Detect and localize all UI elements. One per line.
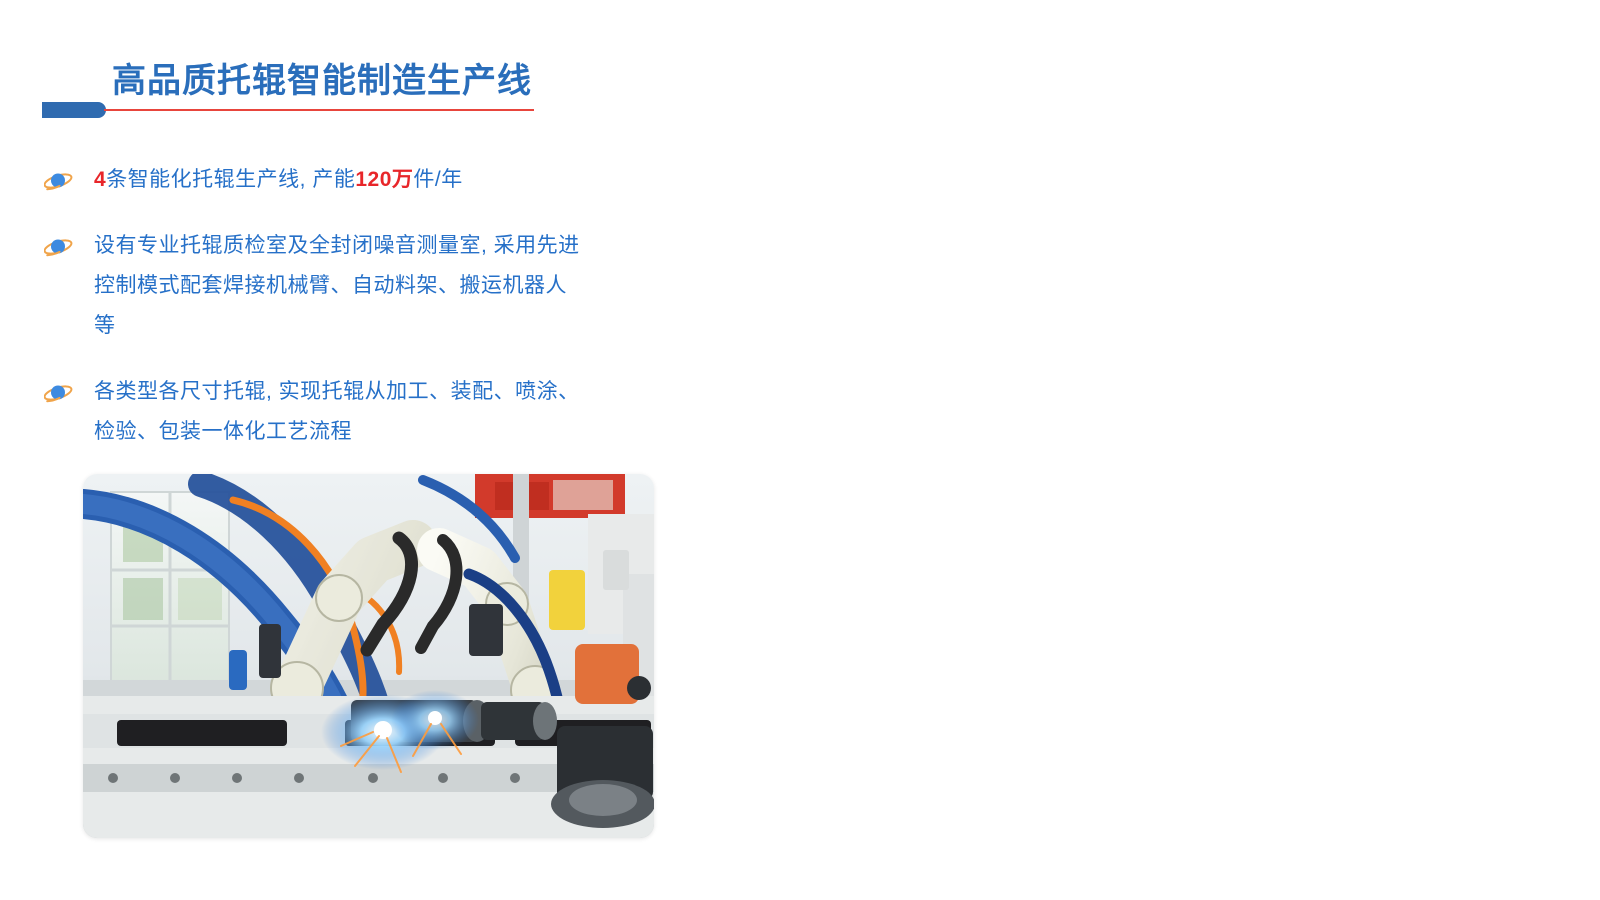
bullet-plain-text: 各类型各尺寸托辊, 实现托辊从加工、装配、喷涂、检验、包装一体化工艺流程 <box>94 380 580 443</box>
robot-welding-illustration <box>83 474 654 838</box>
bullet-text: 各类型各尺寸托辊, 实现托辊从加工、装配、喷涂、检验、包装一体化工艺流程 <box>94 372 582 452</box>
bullet-plain-text: 设有专业托辊质检室及全封闭噪音测量室, 采用先进控制模式配套焊接机械臂、自动料架… <box>94 234 580 337</box>
heading-underline-rule <box>104 109 534 111</box>
left-bullet-list: 4条智能化托辊生产线, 产能120万件/年设有专业托辊质检室及全封闭噪音测量室,… <box>42 160 582 478</box>
planet-icon <box>44 382 74 404</box>
left-section-heading: 高品质托辊智能制造生产线 <box>42 40 562 110</box>
planet-icon <box>44 236 74 258</box>
bullet-plain-text: 件/年 <box>413 168 462 191</box>
bullet-text: 4条智能化托辊生产线, 产能120万件/年 <box>94 160 582 200</box>
bullet-item: 4条智能化托辊生产线, 产能120万件/年 <box>42 160 582 200</box>
bullet-highlight-text: 120万 <box>355 168 413 191</box>
left-photo-robot-welding-line <box>83 474 654 838</box>
left-column: 高品质托辊智能制造生产线 4条智能化托辊生产线, 产能120万件/年设有专业托辊… <box>0 0 800 900</box>
bullet-plain-text: 条智能化托辊生产线, 产能 <box>106 168 355 191</box>
bullet-item: 设有专业托辊质检室及全封闭噪音测量室, 采用先进控制模式配套焊接机械臂、自动料架… <box>42 226 582 346</box>
bullet-highlight-text: 4 <box>94 168 106 191</box>
bullet-text: 设有专业托辊质检室及全封闭噪音测量室, 采用先进控制模式配套焊接机械臂、自动料架… <box>94 226 582 346</box>
bullet-item: 各类型各尺寸托辊, 实现托辊从加工、装配、喷涂、检验、包装一体化工艺流程 <box>42 372 582 452</box>
planet-icon <box>44 170 74 192</box>
right-column: 气力输送 研发和应用业绩居行业第一, 应用业绩超过2000台套, 配套电力行业累… <box>800 0 1600 900</box>
heading-tab-shape <box>42 102 106 118</box>
left-heading-title: 高品质托辊智能制造生产线 <box>112 64 532 98</box>
